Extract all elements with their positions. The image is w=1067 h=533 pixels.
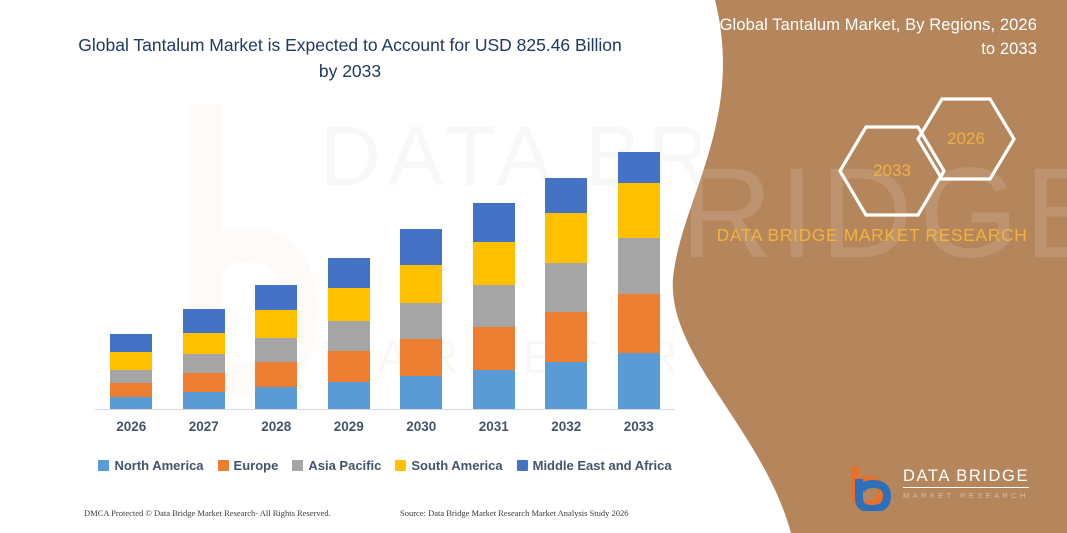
legend-label: Europe: [234, 458, 279, 473]
stacked-bar-plot: [95, 120, 675, 410]
bar-segment: [183, 333, 225, 354]
legend-swatch-icon: [98, 460, 109, 471]
legend-swatch-icon: [292, 460, 303, 471]
x-label-2030: 2030: [391, 419, 451, 434]
chart-legend: North AmericaEuropeAsia PacificSouth Ame…: [95, 455, 675, 475]
x-axis-labels: 20262027202820292030203120322033: [95, 419, 675, 445]
bar-segment: [255, 310, 297, 338]
bar-segment: [183, 373, 225, 392]
legend-swatch-icon: [517, 460, 528, 471]
legend-swatch-icon: [218, 460, 229, 471]
bar-segment: [328, 321, 370, 351]
bar-segment: [618, 152, 660, 183]
bar-2029[interactable]: [328, 258, 370, 410]
bar-segment: [473, 327, 515, 370]
bar-segment: [545, 312, 587, 362]
chart-panel: Global Tantalum Market is Expected to Ac…: [0, 0, 700, 533]
x-label-2033: 2033: [609, 419, 669, 434]
x-label-2031: 2031: [464, 419, 524, 434]
bar-segment: [400, 339, 442, 376]
footer-source: Source: Data Bridge Market Research Mark…: [400, 508, 629, 518]
bar-segment: [618, 183, 660, 238]
bar-2030[interactable]: [400, 229, 442, 410]
x-label-2028: 2028: [246, 419, 306, 434]
bar-segment: [400, 265, 442, 303]
brand-panel: BRIDGE Global Tantalum Market, By Region…: [667, 0, 1067, 533]
bar-segment: [473, 285, 515, 327]
bar-segment: [328, 351, 370, 382]
x-axis-line: [95, 409, 675, 410]
legend-item[interactable]: South America: [395, 458, 502, 473]
x-label-2032: 2032: [536, 419, 596, 434]
bar-segment: [473, 370, 515, 410]
legend-label: North America: [114, 458, 203, 473]
bar-segment: [255, 285, 297, 310]
bar-segment: [400, 229, 442, 265]
hexagon-2033: 2033: [837, 123, 947, 219]
legend-label: Middle East and Africa: [533, 458, 672, 473]
bar-2028[interactable]: [255, 285, 297, 410]
bar-segment: [183, 354, 225, 373]
logo-title: DATA BRIDGE: [903, 467, 1029, 486]
footer: DMCA Protected © Data Bridge Market Rese…: [0, 508, 700, 528]
hexagon-group: 2026 2033: [807, 95, 1057, 210]
legend-item[interactable]: North America: [98, 458, 203, 473]
legend-label: Asia Pacific: [308, 458, 381, 473]
bar-2031[interactable]: [473, 203, 515, 410]
bar-segment: [618, 238, 660, 294]
bar-segment: [328, 288, 370, 321]
data-bridge-logo: DATA BRIDGE MARKET RESEARCH: [847, 463, 1047, 515]
bar-segment: [473, 203, 515, 242]
bar-segment: [255, 362, 297, 387]
legend-swatch-icon: [395, 460, 406, 471]
bar-2027[interactable]: [183, 309, 225, 410]
infographic-canvas: Global Tantalum Market is Expected to Ac…: [0, 0, 1067, 533]
legend-item[interactable]: Europe: [218, 458, 279, 473]
brand-title: DATA BRIDGE MARKET RESEARCH: [687, 222, 1057, 248]
legend-item[interactable]: Asia Pacific: [292, 458, 381, 473]
bar-segment: [473, 242, 515, 285]
x-label-2027: 2027: [174, 419, 234, 434]
bar-segment: [183, 392, 225, 410]
bar-segment: [400, 376, 442, 410]
bar-segment: [110, 352, 152, 370]
bar-segment: [545, 362, 587, 410]
bar-2026[interactable]: [110, 334, 152, 410]
page-title: Global Tantalum Market is Expected to Ac…: [70, 32, 630, 85]
bar-segment: [400, 303, 442, 339]
bar-segment: [618, 294, 660, 353]
bar-segment: [618, 353, 660, 410]
legend-label: South America: [411, 458, 502, 473]
footer-copyright: DMCA Protected © Data Bridge Market Rese…: [84, 508, 331, 518]
bar-segment: [183, 309, 225, 333]
bar-segment: [545, 213, 587, 263]
hexagon-2033-label: 2033: [837, 123, 947, 219]
bar-segment: [328, 382, 370, 410]
bar-segment: [255, 387, 297, 410]
bar-segment: [545, 178, 587, 213]
bar-segment: [110, 334, 152, 352]
bar-segment: [255, 338, 297, 362]
x-label-2029: 2029: [319, 419, 379, 434]
legend-item[interactable]: Middle East and Africa: [517, 458, 672, 473]
bar-segment: [110, 370, 152, 383]
bar-segment: [545, 263, 587, 312]
bar-segment: [328, 258, 370, 288]
bar-2032[interactable]: [545, 178, 587, 410]
logo-subtitle: MARKET RESEARCH: [903, 491, 1029, 500]
x-label-2026: 2026: [101, 419, 161, 434]
bar-segment: [110, 383, 152, 397]
bar-2033[interactable]: [618, 152, 660, 410]
logo-b-icon: [847, 465, 897, 511]
panel-title: Global Tantalum Market, By Regions, 2026…: [707, 14, 1037, 62]
